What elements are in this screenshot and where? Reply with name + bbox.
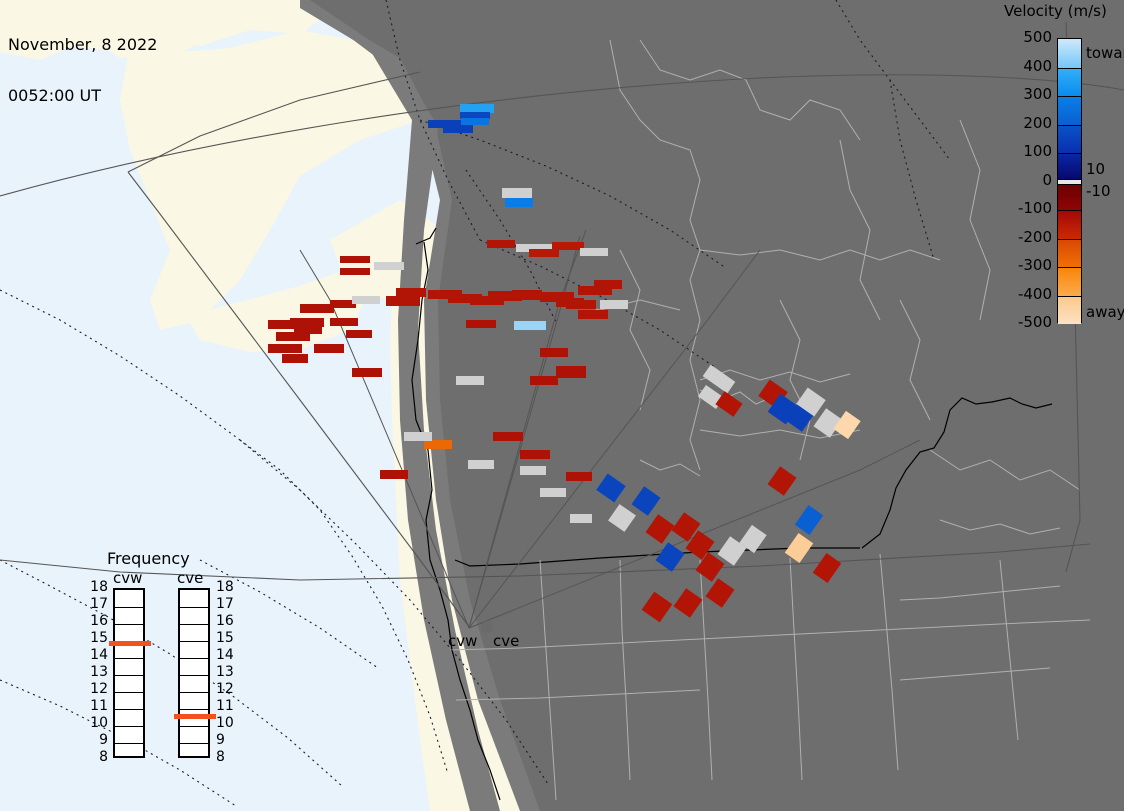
velocity-cell bbox=[268, 344, 302, 353]
colorbar-segment-8 bbox=[1058, 239, 1081, 268]
colorbar-gradient bbox=[1057, 38, 1082, 323]
frequency-scale-label-8: 8 bbox=[86, 751, 108, 763]
colorbar-segment-4 bbox=[1058, 153, 1081, 179]
frequency-scale-label-right-8: 8 bbox=[216, 751, 225, 763]
frequency-scale-label-11: 11 bbox=[86, 700, 108, 712]
velocity-cell bbox=[566, 300, 596, 309]
colorbar-tick-200: 200 bbox=[1023, 117, 1052, 129]
time-label: 0052:00 UT bbox=[8, 87, 157, 104]
velocity-cell bbox=[424, 440, 452, 449]
colorbar-segment-divider bbox=[1058, 96, 1081, 97]
colorbar-lower-threshold-label: -10 bbox=[1086, 182, 1111, 200]
velocity-cell bbox=[466, 320, 496, 328]
frequency-tick-line bbox=[180, 675, 208, 676]
velocity-cell bbox=[530, 376, 558, 385]
frequency-tick-line bbox=[115, 658, 143, 659]
timestamp-block: November, 8 2022 0052:00 UT bbox=[8, 2, 157, 138]
velocity-cell bbox=[340, 256, 370, 263]
frequency-scale-label-12: 12 bbox=[86, 683, 108, 695]
colorbar-tick-400: 400 bbox=[1023, 60, 1052, 72]
frequency-tick-line bbox=[180, 658, 208, 659]
colorbar-segment-1 bbox=[1058, 68, 1081, 97]
frequency-scale-label-10: 10 bbox=[86, 717, 108, 729]
colorbar-toward-label: toward bbox=[1086, 44, 1124, 62]
radar-fan-plot: November, 8 2022 0052:00 UT Velocity (m/… bbox=[0, 0, 1124, 811]
velocity-cell bbox=[340, 268, 370, 275]
velocity-cell bbox=[502, 188, 532, 198]
velocity-cell bbox=[520, 450, 550, 459]
velocity-cell bbox=[540, 488, 566, 497]
frequency-scale-label-right-11: 11 bbox=[216, 700, 234, 712]
velocity-cell bbox=[505, 198, 533, 207]
velocity-cell bbox=[600, 300, 628, 309]
velocity-cell bbox=[556, 366, 586, 378]
velocity-cell bbox=[540, 348, 568, 357]
site-label-cve: cve bbox=[493, 632, 519, 650]
velocity-cell bbox=[460, 112, 490, 119]
velocity-cell bbox=[396, 288, 426, 297]
frequency-tick-line bbox=[180, 743, 208, 744]
colorbar-away-label: away bbox=[1086, 303, 1124, 321]
velocity-cell bbox=[443, 125, 473, 133]
frequency-tick-line bbox=[180, 709, 208, 710]
colorbar-tick--100: -100 bbox=[1018, 202, 1052, 214]
velocity-cell bbox=[404, 432, 432, 441]
frequency-scale-label-13: 13 bbox=[86, 666, 108, 678]
frequency-scale-label-17: 17 bbox=[86, 598, 108, 610]
colorbar-segment-9 bbox=[1058, 267, 1081, 296]
site-label-cvw: cvw bbox=[448, 632, 477, 650]
velocity-cell bbox=[512, 290, 542, 300]
frequency-legend-title: Frequency bbox=[107, 549, 190, 568]
frequency-scale-label-right-14: 14 bbox=[216, 649, 234, 661]
frequency-tick-line bbox=[115, 709, 143, 710]
colorbar-tick-0: 0 bbox=[1042, 174, 1052, 186]
frequency-tick-line bbox=[115, 607, 143, 608]
velocity-cell bbox=[578, 310, 608, 319]
colorbar-segment-7 bbox=[1058, 210, 1081, 239]
velocity-cell bbox=[386, 296, 420, 306]
map-canvas bbox=[0, 0, 1124, 811]
radar-site-marker bbox=[481, 621, 493, 633]
colorbar-segment-divider bbox=[1058, 210, 1081, 211]
colorbar-tick-500: 500 bbox=[1023, 31, 1052, 43]
frequency-tick-line bbox=[115, 726, 143, 727]
colorbar-tick--500: -500 bbox=[1018, 316, 1052, 328]
frequency-scale-label-right-10: 10 bbox=[216, 717, 234, 729]
colorbar-segment-divider bbox=[1058, 179, 1081, 180]
velocity-cell bbox=[570, 514, 592, 523]
colorbar-upper-threshold-label: 10 bbox=[1086, 160, 1105, 178]
velocity-cell bbox=[314, 344, 344, 353]
frequency-tick-line bbox=[115, 675, 143, 676]
velocity-cell bbox=[268, 320, 294, 329]
velocity-cell bbox=[460, 104, 494, 113]
frequency-scale-label-16: 16 bbox=[86, 615, 108, 627]
frequency-tick-line bbox=[115, 743, 143, 744]
velocity-cell bbox=[300, 304, 334, 313]
colorbar-tick--300: -300 bbox=[1018, 259, 1052, 271]
colorbar-tick-300: 300 bbox=[1023, 88, 1052, 100]
colorbar-segment-6 bbox=[1058, 184, 1081, 210]
frequency-scale-label-right-16: 16 bbox=[216, 615, 234, 627]
velocity-cell bbox=[380, 470, 408, 479]
frequency-tick-line bbox=[115, 624, 143, 625]
frequency-scale-label-right-9: 9 bbox=[216, 734, 225, 746]
frequency-scale-label-right-15: 15 bbox=[216, 632, 234, 644]
frequency-scale-label-18: 18 bbox=[86, 581, 108, 593]
velocity-cell bbox=[374, 262, 404, 270]
velocity-cell bbox=[493, 432, 523, 441]
frequency-scale-label-right-12: 12 bbox=[216, 683, 234, 695]
frequency-bar-label-cve: cve bbox=[177, 569, 203, 587]
colorbar-segment-3 bbox=[1058, 125, 1081, 154]
frequency-tick-line bbox=[180, 607, 208, 608]
colorbar-segment-divider bbox=[1058, 153, 1081, 154]
frequency-bar-cvw[interactable] bbox=[113, 588, 145, 758]
frequency-tick-line bbox=[180, 641, 208, 642]
velocity-cell bbox=[461, 118, 489, 125]
colorbar-segment-divider bbox=[1058, 296, 1081, 297]
velocity-cell bbox=[552, 242, 584, 250]
frequency-tick-line bbox=[115, 692, 143, 693]
velocity-cell bbox=[352, 296, 380, 304]
frequency-bar-label-cvw: cvw bbox=[113, 569, 142, 587]
velocity-cell bbox=[580, 248, 608, 256]
colorbar-segment-divider bbox=[1058, 184, 1081, 185]
velocity-cell bbox=[487, 240, 515, 248]
colorbar-segment-divider bbox=[1058, 68, 1081, 69]
velocity-cell bbox=[294, 326, 322, 334]
velocity-cell bbox=[456, 376, 484, 385]
velocity-cell bbox=[330, 318, 358, 326]
colorbar-segment-0 bbox=[1058, 39, 1081, 68]
colorbar-segment-10 bbox=[1058, 296, 1081, 325]
colorbar-segment-2 bbox=[1058, 96, 1081, 125]
frequency-scale-label-14: 14 bbox=[86, 649, 108, 661]
velocity-cell bbox=[468, 460, 494, 469]
frequency-scale-label-right-13: 13 bbox=[216, 666, 234, 678]
frequency-scale-label-right-17: 17 bbox=[216, 598, 234, 610]
velocity-cell bbox=[352, 368, 382, 377]
velocity-cell bbox=[282, 354, 308, 363]
velocity-cell bbox=[566, 472, 592, 481]
colorbar-segment-divider bbox=[1058, 267, 1081, 268]
colorbar-segment-divider bbox=[1058, 239, 1081, 240]
frequency-marker-cvw bbox=[109, 641, 151, 646]
colorbar-tick-labels: 5004003002001000-100-200-300-400-500 bbox=[994, 0, 1052, 811]
colorbar-tick--400: -400 bbox=[1018, 288, 1052, 300]
frequency-tick-line bbox=[180, 726, 208, 727]
velocity-cell bbox=[290, 318, 324, 327]
colorbar-segment-divider bbox=[1058, 125, 1081, 126]
frequency-marker-cve bbox=[174, 714, 216, 719]
velocity-cell bbox=[520, 466, 546, 475]
velocity-cell bbox=[529, 249, 559, 257]
frequency-bar-cve[interactable] bbox=[178, 588, 210, 758]
frequency-tick-line bbox=[180, 692, 208, 693]
frequency-scale-label-right-18: 18 bbox=[216, 581, 234, 593]
velocity-cell bbox=[514, 321, 546, 330]
colorbar-tick-100: 100 bbox=[1023, 145, 1052, 157]
frequency-tick-line bbox=[180, 624, 208, 625]
frequency-scale-label-9: 9 bbox=[86, 734, 108, 746]
colorbar-tick--200: -200 bbox=[1018, 231, 1052, 243]
frequency-scale-label-15: 15 bbox=[86, 632, 108, 644]
date-label: November, 8 2022 bbox=[8, 36, 157, 53]
velocity-cell bbox=[346, 330, 372, 338]
velocity-cell bbox=[594, 280, 622, 289]
